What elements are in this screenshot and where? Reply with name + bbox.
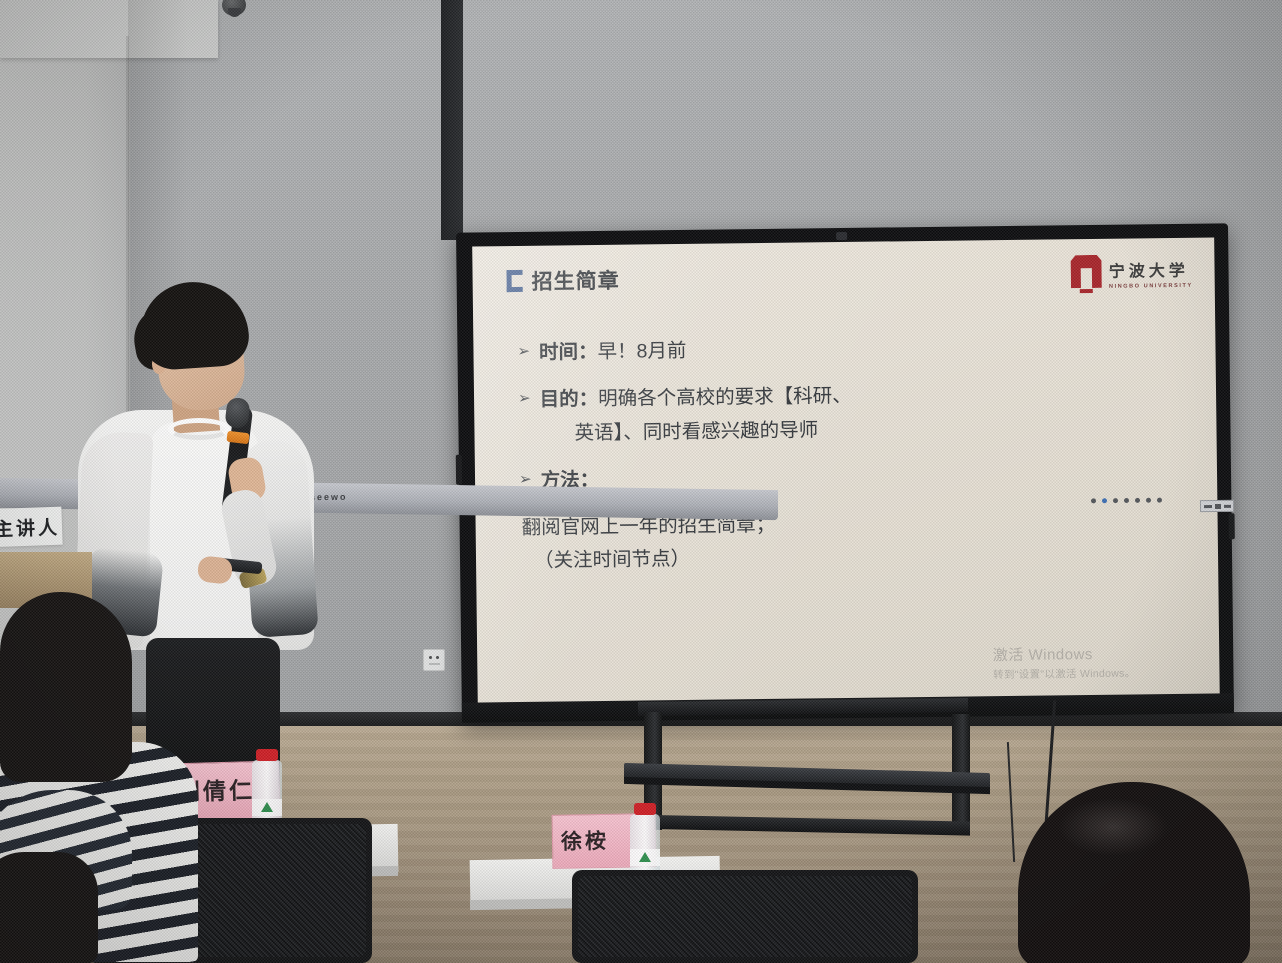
attendee-hair-highlight — [1058, 798, 1168, 856]
dark-wall-recess — [441, 0, 463, 240]
display-side-button-right[interactable] — [1229, 513, 1235, 539]
attendee-hair — [0, 592, 132, 782]
display-side-button-left[interactable] — [456, 455, 462, 485]
bottle-cap — [256, 749, 278, 761]
interactive-display[interactable]: 招生简章 宁波大学 NINGBO UNIVERSITY ➢ 时间：早！8月前 ➢… — [456, 223, 1234, 722]
slide-title-text: 招生简章 — [531, 265, 619, 296]
bullet-text: 早！8月前 — [597, 340, 686, 363]
webcam-icon — [836, 232, 847, 240]
classroom-photo-scene: 招生简章 宁波大学 NINGBO UNIVERSITY ➢ 时间：早！8月前 ➢… — [0, 0, 1282, 963]
power-outlet-icon — [423, 649, 445, 671]
logo-name-cn: 宁波大学 — [1109, 257, 1193, 282]
attendee-hooded-top — [0, 790, 172, 963]
logo-name-en: NINGBO UNIVERSITY — [1109, 283, 1193, 290]
ningbo-university-gate-icon — [1071, 255, 1102, 293]
bullet-item: ➢ 时间：早！8月前 — [517, 330, 1175, 370]
university-logo: 宁波大学 NINGBO UNIVERSITY — [1071, 254, 1193, 293]
power-led-icon — [1102, 498, 1107, 503]
speaker-sign-text: 主讲人 — [0, 513, 60, 542]
water-bottle — [630, 814, 660, 874]
bullet-arrow-icon: ➢ — [518, 384, 531, 413]
slide-paragraph: （关注时间节点） — [534, 537, 1178, 578]
display-io-ports[interactable] — [1200, 500, 1234, 512]
bullet-item: ➢ 目的：明确各个高校的要求【科研、 — [518, 377, 1176, 417]
bottle-cap — [634, 803, 656, 815]
slide-title: 招生简章 — [506, 265, 619, 296]
display-screen[interactable]: 招生简章 宁波大学 NINGBO UNIVERSITY ➢ 时间：早！8月前 ➢… — [472, 237, 1220, 704]
bullet-arrow-icon: ➢ — [517, 338, 530, 367]
speaker-sign: 主讲人 — [0, 507, 63, 548]
office-chair — [572, 870, 918, 963]
bullet-text: 明确各个高校的要求【科研、 — [598, 384, 852, 409]
watermark-line-2: 转到"设置"以激活 Windows。 — [993, 665, 1136, 682]
watermark-line-1: 激活 Windows — [993, 642, 1136, 665]
presenter-hair — [137, 278, 251, 371]
water-bottle — [252, 760, 282, 824]
name-placard-text: 徐桉 — [561, 825, 610, 856]
bracket-mark-icon — [506, 270, 522, 292]
presenter-hand-left — [197, 555, 234, 584]
bullet-key: 时间： — [539, 341, 598, 364]
bullet-continuation: 英语】、同时看感兴趣的导师 — [574, 411, 1176, 450]
windows-activation-watermark: 激活 Windows 转到"设置"以激活 Windows。 — [993, 642, 1136, 682]
presenter-collar — [168, 418, 230, 440]
attendee-foreground-right — [1018, 782, 1250, 963]
display-brand-label: seewo — [310, 492, 348, 502]
bottle-label — [630, 849, 660, 866]
display-indicator-leds — [1091, 498, 1162, 504]
bottle-label — [252, 799, 282, 816]
slide-body: ➢ 时间：早！8月前 ➢ 目的：明确各个高校的要求【科研、 英语】、同时看感兴趣… — [517, 330, 1178, 579]
bullet-key: 目的： — [540, 388, 599, 411]
attendee-hair — [0, 852, 98, 963]
